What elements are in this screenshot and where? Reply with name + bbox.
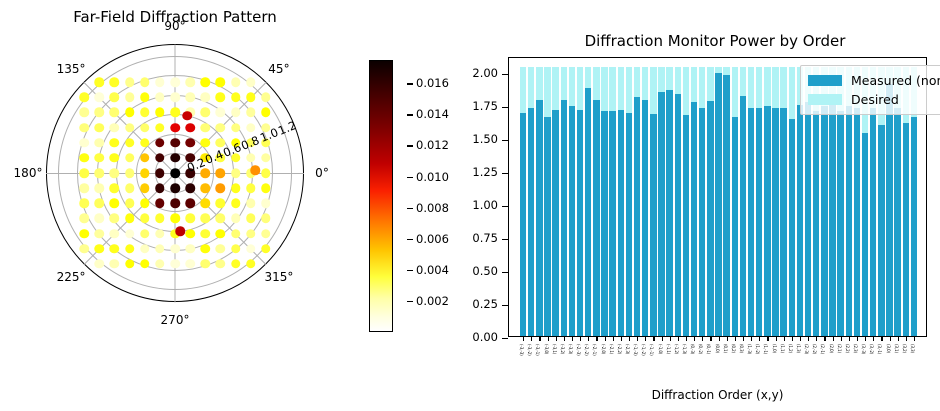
x-tick: [702, 336, 703, 341]
x-tick-label: (3,1): [894, 344, 899, 353]
legend-entry-desired: Desired: [808, 90, 940, 109]
colorbar-tick-label: 0.008: [416, 201, 449, 215]
polar-angle-label-270: 270°: [161, 313, 190, 327]
polar-angle-label-0: 0°: [315, 166, 329, 180]
colorbar-tick: [407, 83, 413, 84]
bar-chart-title: Diffraction Monitor Power by Order: [490, 32, 940, 50]
x-tick-label: (1,-3): [747, 344, 752, 354]
colorbar-tick: [407, 114, 413, 115]
x-tick: [873, 336, 874, 341]
x-tick: [531, 336, 532, 341]
x-tick: [572, 336, 573, 341]
x-axis-label: Diffraction Order (x,y): [508, 388, 927, 402]
x-axis-tick-labels: (-3,-3)(-3,-2)(-3,-1)(-3,0)(-3,1)(-3,2)(…: [508, 343, 927, 387]
x-tick-label: (-1,-2): [641, 344, 646, 356]
x-tick: [539, 336, 540, 341]
y-tick-label: 1.50: [454, 132, 498, 146]
x-tick: [694, 336, 695, 341]
x-tick-label: (0,2): [731, 344, 736, 353]
x-tick-label: (-1,3): [682, 344, 687, 354]
x-tick: [710, 336, 711, 341]
x-tick-label: (1,3): [796, 344, 801, 353]
x-tick-label: (0,-1): [706, 344, 711, 354]
y-tick-label: 1.75: [454, 99, 498, 113]
x-tick-label: (2,-1): [820, 344, 825, 354]
x-tick-label: (-2,2): [617, 344, 622, 354]
legend-swatch-measured: [808, 75, 842, 86]
x-tick-label: (0,-2): [698, 344, 703, 354]
x-tick-label: (-1,1): [666, 344, 671, 354]
x-tick-label: (-2,3): [625, 344, 630, 354]
x-tick-label: (3,3): [910, 344, 915, 353]
x-tick: [637, 336, 638, 341]
x-tick-label: (1,-1): [763, 344, 768, 354]
x-tick: [776, 336, 777, 341]
colorbar-tick-label: 0.004: [416, 263, 449, 277]
x-tick: [686, 336, 687, 341]
x-tick: [792, 336, 793, 341]
colorbar-panel: 0.0160.0140.0120.0100.0080.0060.0040.002: [355, 0, 460, 411]
x-tick: [857, 336, 858, 341]
legend-label-measured: Measured (nonzero): [851, 73, 940, 88]
x-tick-label: (3,-2): [869, 344, 874, 354]
x-tick: [833, 336, 834, 341]
colorbar-tick-label: 0.010: [416, 170, 449, 184]
x-tick-label: (2,2): [845, 344, 850, 353]
x-tick-label: (-1,-1): [649, 344, 654, 356]
x-tick-label: (0,1): [723, 344, 728, 353]
x-tick: [629, 336, 630, 341]
x-tick: [824, 336, 825, 341]
x-tick: [759, 336, 760, 341]
polar-angle-label-90: 90°: [164, 19, 185, 33]
polar-angle-tick-labels: 0°45°90°135°180°225°270°315°: [0, 0, 350, 411]
x-tick-label: (0,3): [739, 344, 744, 353]
colorbar-tick: [407, 301, 413, 302]
y-tick-label: 1.00: [454, 198, 498, 212]
polar-angle-label-180: 180°: [14, 166, 43, 180]
x-tick: [564, 336, 565, 341]
x-tick: [653, 336, 654, 341]
x-tick-label: (2,0): [829, 344, 834, 353]
colorbar-tick-label: 0.014: [416, 107, 449, 121]
x-tick: [719, 336, 720, 341]
colorbar-tick-label: 0.006: [416, 232, 449, 246]
x-tick: [621, 336, 622, 341]
colorbar-tick: [407, 270, 413, 271]
x-tick: [678, 336, 679, 341]
x-tick: [849, 336, 850, 341]
x-tick-label: (-3,2): [560, 344, 565, 354]
polar-angle-label-135: 135°: [57, 62, 86, 76]
x-tick: [580, 336, 581, 341]
y-tick: [502, 338, 508, 339]
bar-chart-panel: Diffraction Monitor Power by Order Measu…: [460, 0, 940, 411]
bar-chart-legend[interactable]: Measured (nonzero) Desired: [800, 65, 940, 115]
x-tick: [808, 336, 809, 341]
x-tick-label: (-2,-1): [592, 344, 597, 356]
x-tick-label: (-3,-3): [519, 344, 524, 356]
x-tick-label: (2,-2): [812, 344, 817, 354]
x-tick-label: (-3,-2): [527, 344, 532, 356]
x-tick-label: (2,3): [853, 344, 858, 353]
x-tick: [613, 336, 614, 341]
y-tick-label: 0.50: [454, 264, 498, 278]
x-tick-label: (-2,-3): [576, 344, 581, 356]
y-tick-label: 2.00: [454, 66, 498, 80]
colorbar-tick-label: 0.002: [416, 294, 449, 308]
y-axis-tick-labels: 0.000.250.500.751.001.251.501.752.00: [460, 57, 508, 337]
x-tick: [645, 336, 646, 341]
x-tick-label: (0,-3): [690, 344, 695, 354]
x-tick-label: (-1,2): [674, 344, 679, 354]
x-tick: [914, 336, 915, 341]
polar-plot-panel: Far-Field Diffraction Pattern 0.20.40.60…: [0, 0, 350, 411]
y-tick-label: 0.00: [454, 330, 498, 344]
legend-entry-measured: Measured (nonzero): [808, 71, 940, 90]
x-tick: [727, 336, 728, 341]
colorbar-tick: [407, 145, 413, 146]
x-tick-label: (-3,3): [568, 344, 573, 354]
x-tick: [865, 336, 866, 341]
x-tick: [898, 336, 899, 341]
x-tick-label: (-1,-3): [633, 344, 638, 356]
x-tick-label: (3,2): [902, 344, 907, 353]
x-tick: [556, 336, 557, 341]
polar-angle-label-225: 225°: [57, 270, 86, 284]
x-tick: [767, 336, 768, 341]
x-tick: [890, 336, 891, 341]
colorbar-tick: [407, 208, 413, 209]
x-tick-label: (3,-1): [877, 344, 882, 354]
x-tick: [605, 336, 606, 341]
x-tick: [751, 336, 752, 341]
x-tick-label: (-2,1): [609, 344, 614, 354]
bar-chart-axes: Measured (nonzero) Desired: [508, 57, 927, 337]
x-tick-label: (3,-3): [861, 344, 866, 354]
x-tick: [816, 336, 817, 341]
x-tick: [523, 336, 524, 341]
x-tick-label: (-3,1): [552, 344, 557, 354]
x-tick-label: (-3,-1): [535, 344, 540, 356]
x-tick-label: (0,0): [715, 344, 720, 353]
colorbar-tick: [407, 177, 413, 178]
x-tick: [735, 336, 736, 341]
x-tick-label: (1,2): [788, 344, 793, 353]
x-tick: [784, 336, 785, 341]
x-tick: [662, 336, 663, 341]
x-tick: [548, 336, 549, 341]
x-tick-label: (-1,0): [658, 344, 663, 354]
legend-label-desired: Desired: [851, 92, 899, 107]
x-tick: [670, 336, 671, 341]
polar-angle-label-315: 315°: [264, 270, 293, 284]
y-tick-label: 0.75: [454, 231, 498, 245]
colorbar-tick: [407, 239, 413, 240]
x-tick: [841, 336, 842, 341]
x-tick: [588, 336, 589, 341]
y-tick-label: 1.25: [454, 165, 498, 179]
x-tick-label: (2,-3): [804, 344, 809, 354]
x-tick: [881, 336, 882, 341]
legend-swatch-desired: [808, 94, 842, 105]
x-tick: [906, 336, 907, 341]
colorbar-tick-label: 0.012: [416, 138, 449, 152]
x-tick: [743, 336, 744, 341]
x-tick-label: (1,-2): [755, 344, 760, 354]
x-tick: [800, 336, 801, 341]
x-tick-label: (1,0): [772, 344, 777, 353]
x-tick-label: (-2,0): [601, 344, 606, 354]
x-tick-label: (1,1): [780, 344, 785, 353]
y-tick-label: 0.25: [454, 297, 498, 311]
colorbar-ticks: 0.0160.0140.0120.0100.0080.0060.0040.002: [369, 60, 459, 332]
polar-angle-label-45: 45°: [268, 62, 289, 76]
x-tick: [596, 336, 597, 341]
figure-canvas: Far-Field Diffraction Pattern 0.20.40.60…: [0, 0, 940, 411]
x-tick-label: (-2,-2): [584, 344, 589, 356]
colorbar-tick-label: 0.016: [416, 76, 449, 90]
x-tick-label: (3,0): [886, 344, 891, 353]
x-tick-label: (-3,0): [544, 344, 549, 354]
x-tick-label: (2,1): [837, 344, 842, 353]
